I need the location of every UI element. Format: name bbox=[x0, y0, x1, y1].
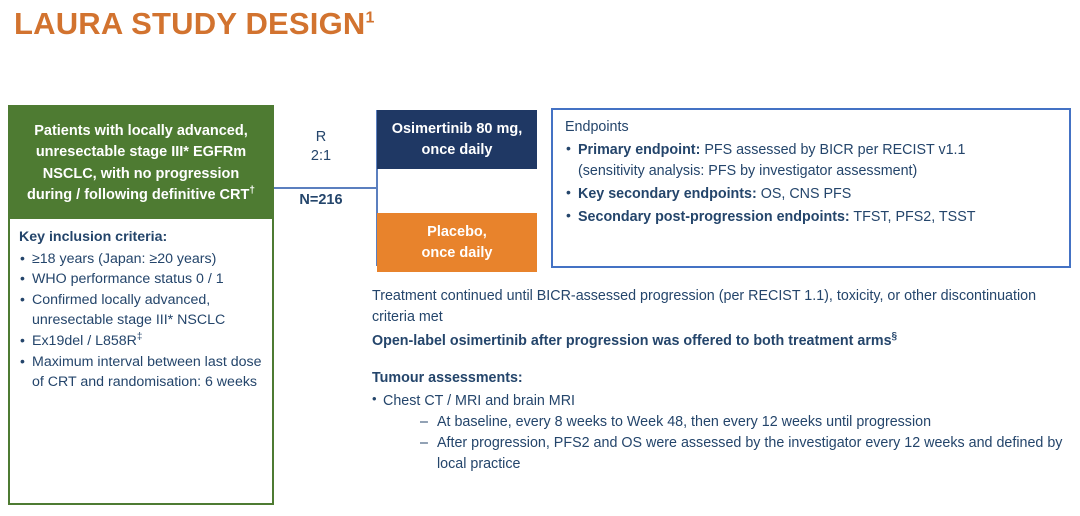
inclusion-item-text: Confirmed locally advanced, unresectable… bbox=[32, 292, 225, 328]
endpoint-label: Key secondary endpoints: bbox=[578, 186, 757, 202]
endpoints-list: Primary endpoint: PFS assessed by BICR p… bbox=[565, 140, 1059, 227]
randomisation-ratio: R 2:1 bbox=[288, 128, 354, 167]
population-line-4: during / following definitive CRT† bbox=[20, 185, 262, 206]
page-title: LAURA STUDY DESIGN1 bbox=[14, 6, 375, 42]
assessment-sub-list: At baseline, every 8 weeks to Week 48, t… bbox=[383, 412, 1072, 475]
endpoint-label: Primary endpoint: bbox=[578, 142, 700, 158]
inclusion-item-text: WHO performance status 0 / 1 bbox=[32, 271, 224, 287]
endpoint-value: TFST, PFS2, TSST bbox=[850, 209, 976, 225]
tumour-assessments-list: Chest CT / MRI and brain MRI At baseline… bbox=[372, 391, 1072, 475]
population-line-2: unresectable stage III* EGFRm bbox=[20, 142, 262, 163]
list-item: Chest CT / MRI and brain MRI At baseline… bbox=[372, 391, 1072, 475]
arm-line-1: Osimertinib 80 mg, bbox=[383, 119, 531, 140]
inclusion-item-superscript: ‡ bbox=[137, 332, 143, 343]
list-item: Primary endpoint: PFS assessed by BICR p… bbox=[565, 140, 1059, 181]
arm-line-1: Placebo, bbox=[383, 222, 531, 243]
list-item: At baseline, every 8 weeks to Week 48, t… bbox=[420, 412, 1072, 433]
arm-line-2: once daily bbox=[383, 140, 531, 161]
open-label-superscript: § bbox=[892, 332, 898, 343]
treatment-arm-osimertinib: Osimertinib 80 mg, once daily bbox=[377, 110, 537, 169]
endpoints-box: Endpoints Primary endpoint: PFS assessed… bbox=[551, 108, 1071, 268]
assessment-item-text: Chest CT / MRI and brain MRI bbox=[383, 393, 575, 409]
list-item: Confirmed locally advanced, unresectable… bbox=[19, 290, 263, 331]
list-item: Ex19del / L858R‡ bbox=[19, 331, 263, 351]
open-label-note: Open-label osimertinib after progression… bbox=[372, 331, 1072, 352]
inclusion-item-text: Ex19del / L858R bbox=[32, 333, 137, 349]
population-line-4-text: during / following definitive CRT bbox=[27, 187, 249, 203]
inclusion-criteria-list: ≥18 years (Japan: ≥20 years) WHO perform… bbox=[19, 249, 263, 393]
population-line-3: NSCLC, with no progression bbox=[20, 164, 262, 185]
endpoints-title: Endpoints bbox=[565, 117, 1059, 137]
inclusion-criteria-title: Key inclusion criteria: bbox=[19, 227, 263, 247]
open-label-note-text: Open-label osimertinib after progression… bbox=[372, 333, 892, 349]
study-population-panel: Patients with locally advanced, unresect… bbox=[8, 105, 274, 505]
treatment-arm-placebo: Placebo, once daily bbox=[377, 213, 537, 272]
list-item: Key secondary endpoints: OS, CNS PFS bbox=[565, 184, 1059, 204]
endpoint-value: OS, CNS PFS bbox=[757, 186, 852, 202]
connector-stem-line bbox=[274, 187, 378, 189]
population-box: Patients with locally advanced, unresect… bbox=[10, 107, 272, 219]
endpoint-continuation: (sensitivity analysis: PFS by investigat… bbox=[578, 161, 1059, 181]
randomisation-sample-size: N=216 bbox=[282, 192, 360, 208]
list-item: Secondary post-progression endpoints: TF… bbox=[565, 207, 1059, 227]
page-title-superscript: 1 bbox=[366, 10, 375, 27]
list-item: After progression, PFS2 and OS were asse… bbox=[420, 433, 1072, 474]
endpoint-label: Secondary post-progression endpoints: bbox=[578, 209, 850, 225]
tumour-assessments-title: Tumour assessments: bbox=[372, 368, 1072, 389]
population-dagger-superscript: † bbox=[249, 185, 255, 196]
inclusion-item-text: ≥18 years (Japan: ≥20 years) bbox=[32, 251, 216, 267]
arm-line-2: once daily bbox=[383, 243, 531, 264]
list-item: WHO performance status 0 / 1 bbox=[19, 269, 263, 289]
page-title-text: LAURA STUDY DESIGN bbox=[14, 6, 366, 41]
inclusion-item-text: Maximum interval between last dose of CR… bbox=[32, 354, 261, 390]
list-item: ≥18 years (Japan: ≥20 years) bbox=[19, 249, 263, 269]
endpoint-value: PFS assessed by BICR per RECIST v1.1 bbox=[700, 142, 965, 158]
inclusion-criteria-box: Key inclusion criteria: ≥18 years (Japan… bbox=[10, 219, 272, 401]
randomisation-connector: R 2:1 N=216 bbox=[274, 110, 380, 268]
population-line-1: Patients with locally advanced, bbox=[20, 121, 262, 142]
treatment-continuation-note: Treatment continued until BICR-assessed … bbox=[372, 286, 1072, 327]
study-details-block: Treatment continued until BICR-assessed … bbox=[372, 286, 1072, 476]
randomisation-ratio-value: 2:1 bbox=[288, 147, 354, 166]
list-item: Maximum interval between last dose of CR… bbox=[19, 352, 263, 393]
randomisation-r-label: R bbox=[288, 128, 354, 147]
